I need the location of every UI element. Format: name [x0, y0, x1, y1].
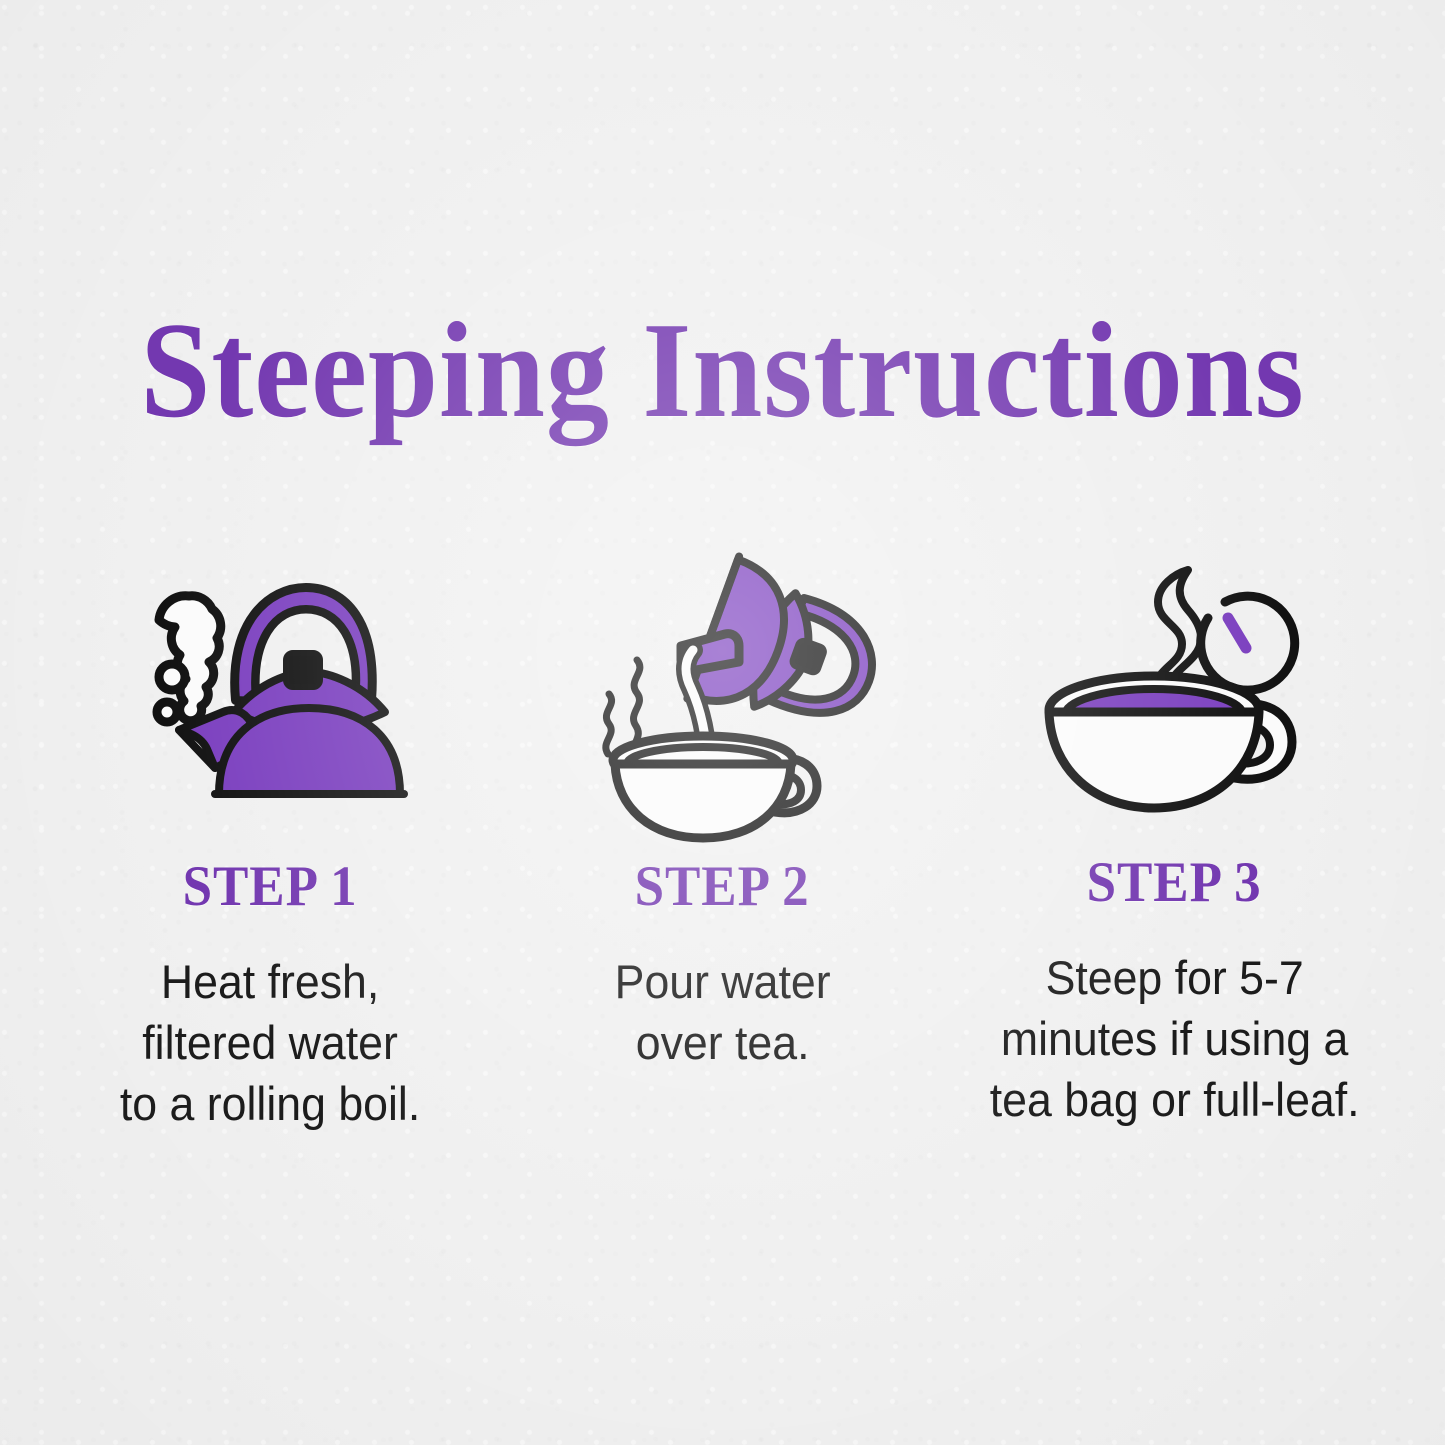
step-1-body: Heat fresh, filtered water to a rolling … — [120, 951, 420, 1134]
steaming-kettle-icon — [119, 560, 419, 810]
step-3-body: Steep for 5-7 minutes if using a tea bag… — [990, 947, 1360, 1130]
cup-bowl-icon — [1049, 712, 1259, 808]
steps-row: STEP 1 Heat fresh, filtered water to a r… — [0, 520, 1445, 1134]
step-column-2: STEP 2 Pour water over tea. — [497, 520, 949, 1073]
steaming-teacup-with-timer-icon — [1030, 560, 1340, 810]
step-1-label: STEP 1 — [183, 858, 358, 915]
step-2-illustration — [497, 520, 949, 810]
clock-hand-icon — [1228, 618, 1246, 648]
step-column-3: STEP 3 Steep for 5-7 minutes if using a … — [949, 520, 1401, 1130]
steeping-instructions-poster: Steeping Instructions — [0, 0, 1445, 1445]
step-2-body: Pour water over tea. — [615, 951, 831, 1073]
step-3-label: STEP 3 — [1087, 854, 1262, 911]
pouring-kettle-into-cup-icon — [573, 542, 873, 810]
page-title: Steeping Instructions — [58, 302, 1387, 439]
step-column-1: STEP 1 Heat fresh, filtered water to a r… — [45, 520, 497, 1134]
step-2-label: STEP 2 — [635, 858, 810, 915]
kettle-knob-icon — [286, 653, 320, 687]
teacup-icon — [1049, 676, 1292, 808]
teacup-icon — [613, 736, 817, 838]
steam-cloud-icon — [157, 596, 221, 722]
step-3-illustration — [959, 520, 1411, 810]
timer-icon — [1200, 596, 1294, 690]
step-1-illustration — [43, 520, 495, 810]
